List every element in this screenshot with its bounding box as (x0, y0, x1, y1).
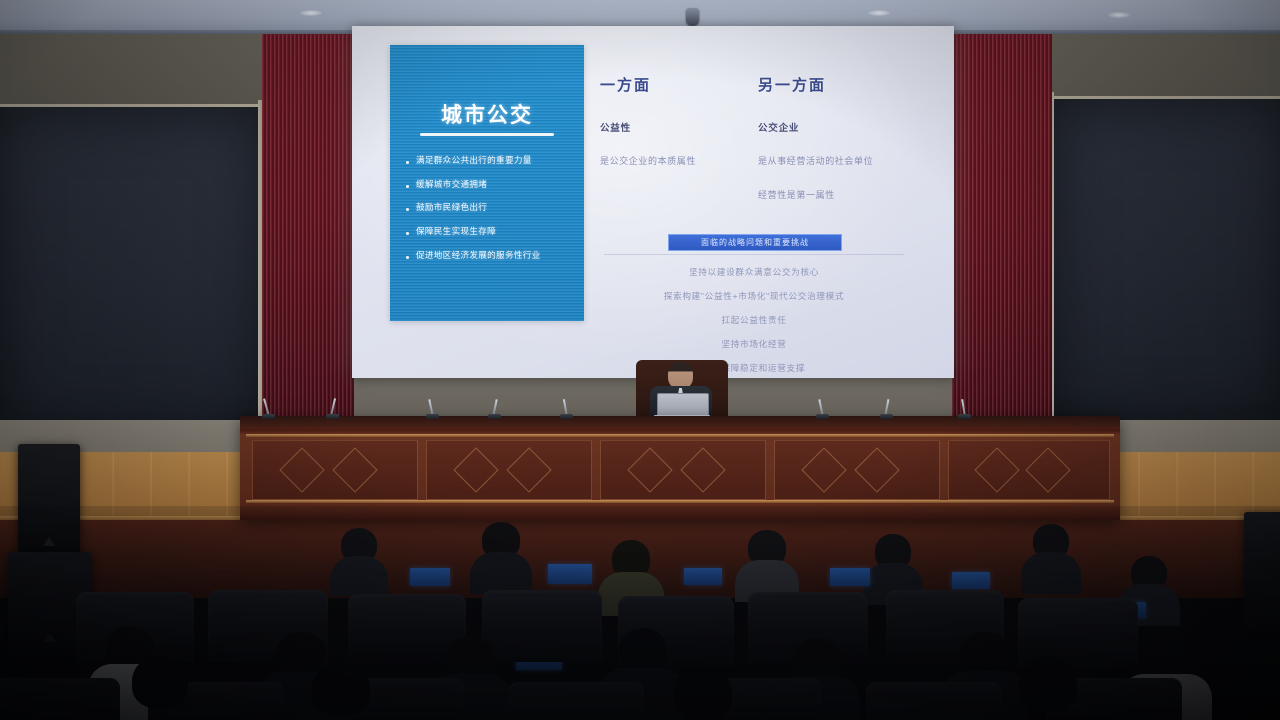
acoustic-panel-right (1052, 96, 1280, 429)
audience-member (1022, 524, 1080, 588)
column-line: 经营性是第一属性 (758, 188, 944, 201)
column-line: 是公交企业的本质属性 (600, 154, 758, 167)
person-head (1019, 656, 1077, 712)
bullet-text: 促进地区经济发展的服务性行业 (416, 250, 541, 261)
column-heading: 另一方面 (758, 74, 944, 95)
curtain-right (952, 34, 1052, 432)
audience-member (470, 522, 532, 588)
person-torso (330, 556, 388, 596)
conclusion-line: 坚持市场化经营 (604, 338, 904, 350)
bullet-text: 保障民生实现生存障 (416, 226, 496, 237)
conclusion-line: 坚持以建设群众满意公交为核心 (604, 266, 904, 278)
conclusion-line: 扛起公益性责任 (604, 314, 904, 326)
acoustic-panel-left (0, 104, 264, 437)
bullet-dot-icon (406, 232, 409, 235)
table-trim-lower (246, 500, 1114, 503)
device-screen (684, 568, 722, 585)
microphone-base (816, 414, 829, 419)
microphone-base (326, 414, 339, 419)
slide-banner: 面临的战略问题和重要挑战 (668, 234, 842, 251)
head-table (240, 416, 1120, 520)
bullet-text: 缓解城市交通拥堵 (416, 179, 487, 190)
column-heading: 一方面 (600, 74, 758, 95)
table-diamond-ornament (454, 447, 499, 492)
table-diamond-ornament (802, 447, 847, 492)
table-panel (600, 440, 766, 500)
microphone-base (488, 414, 501, 419)
audience-member (330, 528, 388, 590)
title-underline (420, 133, 554, 136)
bullet-dot-icon (406, 161, 409, 164)
wall-panel-strip-left (0, 34, 270, 106)
table-panel (252, 440, 418, 500)
seat-back (0, 678, 120, 720)
table-diamond-ornament (628, 447, 673, 492)
table-diamond-ornament (506, 447, 551, 492)
column-subheading: 公交企业 (758, 120, 944, 134)
list-item: 鼓励市民绿色出行 (406, 202, 576, 213)
table-diamond-ornament (854, 447, 899, 492)
list-item: 保障民生实现生存障 (406, 226, 576, 237)
microphone-base (262, 414, 275, 419)
person-head (674, 666, 732, 720)
person-torso (1021, 552, 1081, 594)
ceiling-camera-icon (686, 8, 699, 26)
table-panel (948, 440, 1110, 500)
presenter-head (668, 362, 693, 389)
slide-title-card: 城市公交 满足群众公共出行的重要力量 缓解城市交通拥堵 鼓励市民绿色出行 保障 (390, 45, 584, 321)
bullet-text: 鼓励市民绿色出行 (416, 202, 487, 213)
conference-hall-scene: 城市公交 满足群众公共出行的重要力量 缓解城市交通拥堵 鼓励市民绿色出行 保障 (0, 0, 1280, 720)
ceiling-light-icon (1108, 12, 1130, 18)
table-panel (426, 440, 592, 500)
bullet-dot-icon (406, 256, 409, 259)
slide-column-two: 另一方面 公交企业 是从事经营活动的社会单位 经营性是第一属性 (758, 74, 944, 222)
device-screen (830, 568, 870, 586)
person-head (312, 662, 370, 716)
table-top-surface (240, 416, 1120, 427)
audience-member (864, 534, 922, 598)
slide-bullet-list: 满足群众公共出行的重要力量 缓解城市交通拥堵 鼓励市民绿色出行 保障民生实现生存… (406, 155, 576, 274)
table-diamond-ornament (1026, 447, 1071, 492)
audience-member (662, 666, 744, 720)
projection-screen: 城市公交 满足群众公共出行的重要力量 缓解城市交通拥堵 鼓励市民绿色出行 保障 (352, 26, 954, 378)
microphone-base (880, 414, 893, 419)
audience-member (120, 656, 200, 720)
list-item: 促进地区经济发展的服务性行业 (406, 250, 576, 261)
list-item: 满足群众公共出行的重要力量 (406, 155, 576, 166)
audience-member (1006, 656, 1090, 720)
conclusion-line: 探索构建"公益性+市场化"现代公交治理模式 (604, 290, 904, 302)
bullet-dot-icon (406, 185, 409, 188)
column-subheading: 公益性 (600, 120, 758, 134)
list-item: 缓解城市交通拥堵 (406, 179, 576, 190)
device-screen (410, 568, 450, 586)
seat-back (866, 682, 1002, 720)
column-line: 是从事经营活动的社会单位 (758, 154, 944, 167)
audience-member (736, 530, 798, 596)
slide-title: 城市公交 (390, 99, 584, 129)
device-screen (952, 572, 990, 589)
audience-area (0, 506, 1280, 720)
person-head (132, 656, 188, 708)
ceiling-light-icon (868, 10, 890, 16)
microphone-base (426, 414, 439, 419)
table-diamond-ornament (332, 447, 377, 492)
banner-text: 面临的战略问题和重要挑战 (701, 237, 809, 248)
audience-member (300, 662, 382, 720)
table-panel (774, 440, 940, 500)
person-torso (470, 552, 532, 594)
table-diamond-ornament (974, 447, 1019, 492)
table-diamond-ornament (280, 447, 325, 492)
curtain-left (262, 34, 354, 434)
bullet-dot-icon (406, 208, 409, 211)
ceiling-light-icon (300, 10, 322, 16)
slide-column-one: 一方面 公益性 是公交企业的本质属性 (600, 74, 758, 188)
table-diamond-ornament (680, 447, 725, 492)
microphone-base (560, 414, 573, 419)
microphone-base (958, 414, 971, 419)
table-trim-upper (246, 434, 1114, 437)
seat-back (508, 682, 644, 720)
device-screen (548, 564, 592, 584)
bullet-text: 满足群众公共出行的重要力量 (416, 155, 532, 166)
